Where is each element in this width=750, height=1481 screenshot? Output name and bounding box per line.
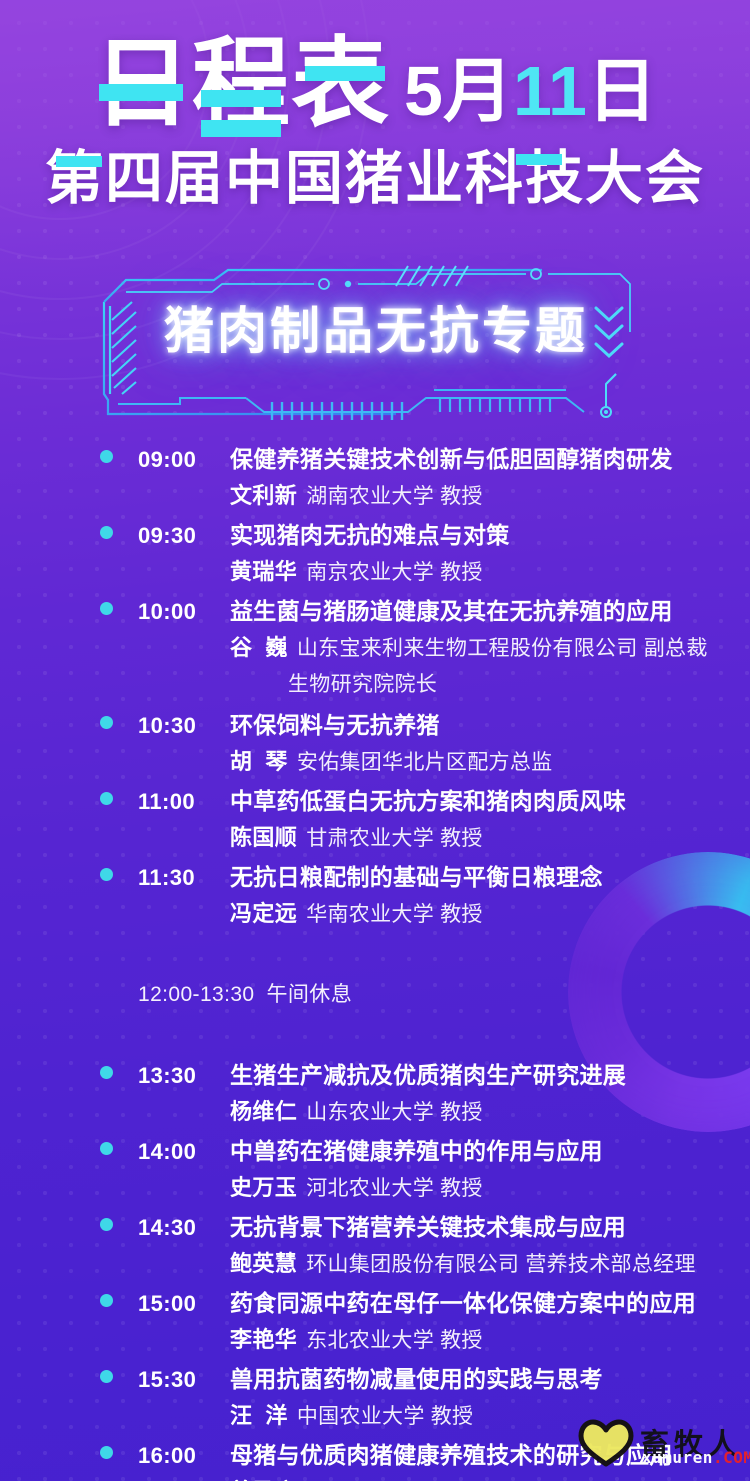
session-speaker: 鲍英慧	[230, 1246, 297, 1278]
poster-header: 日程表 5月11日 第四届中国猪业科技大会	[0, 0, 750, 208]
session-speaker: 冯定远	[230, 896, 297, 928]
session-topic: 实现猪肉无抗的难点与对策	[230, 516, 510, 550]
schedule-row[interactable]: 14:00 中兽药在猪健康养殖中的作用与应用 史万玉 河北农业大学 教授	[0, 1132, 750, 1208]
bullet-icon	[100, 602, 113, 615]
session-speaker-line: 谷 巍 山东宝来利来生物工程股份有限公司 副总裁	[100, 630, 750, 668]
bullet-icon	[100, 1370, 113, 1383]
session-speaker: 杨维仁	[230, 1094, 297, 1126]
session-speaker-line: 黄瑞华 南京农业大学 教授	[100, 554, 750, 592]
schedule-row[interactable]: 13:30 生猪生产减抗及优质猪肉生产研究进展 杨维仁 山东农业大学 教授	[0, 1056, 750, 1132]
session-time: 15:30	[138, 1367, 230, 1393]
session-main-line: 09:00 保健养猪关键技术创新与低胆固醇猪肉研发	[100, 440, 750, 478]
event-subtitle-text: 第四届中国猪业科技大会	[45, 146, 705, 211]
session-topic: 兽用抗菌药物减量使用的实践与思考	[230, 1360, 603, 1394]
session-time: 09:30	[138, 523, 230, 549]
session-affiliation: 山东农业大学 教授	[306, 1476, 483, 1481]
session-speaker: 曾勇庆	[230, 1474, 297, 1481]
session-speaker: 汪 洋	[230, 1398, 288, 1430]
session-main-line: 14:30 无抗背景下猪营养关键技术集成与应用	[100, 1208, 750, 1246]
session-speaker-line: 文利新 湖南农业大学 教授	[100, 478, 750, 516]
session-main-line: 11:30 无抗日粮配制的基础与平衡日粮理念	[100, 858, 750, 896]
session-affiliation: 山东农业大学 教授	[306, 1096, 483, 1126]
session-speaker-line: 杨维仁 山东农业大学 教授	[100, 1094, 750, 1132]
session-main-line: 10:00 益生菌与猪肠道健康及其在无抗养殖的应用	[100, 592, 750, 630]
session-affiliation: 中国农业大学 教授	[297, 1400, 474, 1430]
date-day: 11	[513, 52, 587, 130]
date-suffix: 日	[587, 52, 657, 130]
session-speaker-line: 冯定远 华南农业大学 教授	[100, 896, 750, 934]
watermark-en-domain: xumuren	[642, 1448, 713, 1467]
bullet-icon	[100, 1446, 113, 1459]
session-topic: 环保饲料与无抗养猪	[230, 706, 440, 740]
session-affiliation-line2: 生物研究院院长	[100, 668, 750, 706]
session-time: 11:00	[138, 789, 230, 815]
page-title: 日程表	[93, 34, 390, 132]
session-affiliation: 甘肃农业大学 教授	[306, 822, 483, 852]
bullet-icon	[100, 450, 113, 463]
session-affiliation: 东北农业大学 教授	[306, 1324, 483, 1354]
schedule-row[interactable]: 11:00 中草药低蛋白无抗方案和猪肉肉质风味 陈国顺 甘肃农业大学 教授	[0, 782, 750, 858]
event-subtitle: 第四届中国猪业科技大会	[0, 150, 750, 208]
page-title-text: 日程表	[93, 28, 390, 138]
bullet-icon	[100, 1066, 113, 1079]
poster-root: 日程表 5月11日 第四届中国猪业科技大会	[0, 0, 750, 1481]
session-topic: 无抗背景下猪营养关键技术集成与应用	[230, 1208, 626, 1242]
bullet-icon	[100, 792, 113, 805]
session-topic: 无抗日粮配制的基础与平衡日粮理念	[230, 858, 603, 892]
bullet-icon	[100, 526, 113, 539]
schedule-row[interactable]: 10:00 益生菌与猪肠道健康及其在无抗养殖的应用 谷 巍 山东宝来利来生物工程…	[0, 592, 750, 706]
session-affiliation-cont: 生物研究院院长	[288, 668, 437, 698]
session-time: 11:30	[138, 865, 230, 891]
watermark: 畜牧人 xumuren.COM	[578, 1412, 744, 1474]
banner-circuit-right	[606, 374, 616, 408]
session-affiliation: 河北农业大学 教授	[306, 1172, 483, 1202]
bullet-icon	[100, 1218, 113, 1231]
session-speaker: 李艳华	[230, 1322, 297, 1354]
lunch-break-label: 午间休息	[267, 978, 353, 1008]
session-time: 10:30	[138, 713, 230, 739]
session-speaker: 史万玉	[230, 1170, 297, 1202]
session-speaker-line: 鲍英慧 环山集团股份有限公司 营养技术部总经理	[100, 1246, 750, 1284]
session-main-line: 09:30 实现猪肉无抗的难点与对策	[100, 516, 750, 554]
session-speaker: 陈国顺	[230, 820, 297, 852]
session-speaker-line: 曾勇庆 山东农业大学 教授	[100, 1474, 750, 1481]
session-main-line: 14:00 中兽药在猪健康养殖中的作用与应用	[100, 1132, 750, 1170]
schedule-row[interactable]: 09:00 保健养猪关键技术创新与低胆固醇猪肉研发 文利新 湖南农业大学 教授	[0, 440, 750, 516]
session-affiliation: 安佑集团华北片区配方总监	[297, 746, 553, 776]
watermark-en: xumuren.COM	[642, 1450, 750, 1466]
schedule-row[interactable]: 09:30 实现猪肉无抗的难点与对策 黄瑞华 南京农业大学 教授	[0, 516, 750, 592]
session-time: 09:00	[138, 447, 230, 473]
session-main-line: 10:30 环保饲料与无抗养猪	[100, 706, 750, 744]
title-row: 日程表 5月11日	[0, 0, 750, 132]
session-speaker: 胡 琴	[230, 744, 288, 776]
session-speaker-line: 陈国顺 甘肃农业大学 教授	[100, 820, 750, 858]
session-affiliation: 山东宝来利来生物工程股份有限公司 副总裁	[297, 632, 708, 662]
bullet-icon	[100, 1294, 113, 1307]
session-speaker-line: 史万玉 河北农业大学 教授	[100, 1170, 750, 1208]
session-speaker: 文利新	[230, 478, 297, 510]
session-time: 14:30	[138, 1215, 230, 1241]
schedule-row[interactable]: 14:30 无抗背景下猪营养关键技术集成与应用 鲍英慧 环山集团股份有限公司 营…	[0, 1208, 750, 1284]
session-topic: 中兽药在猪健康养殖中的作用与应用	[230, 1132, 603, 1166]
session-time: 15:00	[138, 1291, 230, 1317]
banner-circuit-dot-core	[604, 410, 608, 414]
session-topic: 益生菌与猪肠道健康及其在无抗养殖的应用	[230, 592, 673, 626]
session-main-line: 15:00 药食同源中药在母仔一体化保健方案中的应用	[100, 1284, 750, 1322]
bullet-icon	[100, 1142, 113, 1155]
lunch-break-row: 12:00-13:30 午间休息	[0, 978, 750, 1016]
lunch-break-time: 12:00-13:30	[138, 983, 255, 1007]
schedule-row[interactable]: 15:00 药食同源中药在母仔一体化保健方案中的应用 李艳华 东北农业大学 教授	[0, 1284, 750, 1360]
session-affiliation: 环山集团股份有限公司 营养技术部总经理	[306, 1248, 696, 1278]
banner-comb-teeth-right	[440, 398, 550, 412]
session-speaker: 黄瑞华	[230, 554, 297, 586]
session-topic: 药食同源中药在母仔一体化保健方案中的应用	[230, 1284, 696, 1318]
session-speaker-line: 李艳华 东北农业大学 教授	[100, 1322, 750, 1360]
schedule-list: 09:00 保健养猪关键技术创新与低胆固醇猪肉研发 文利新 湖南农业大学 教授 …	[0, 440, 750, 1481]
session-time: 14:00	[138, 1139, 230, 1165]
session-topic: 中草药低蛋白无抗方案和猪肉肉质风味	[230, 782, 626, 816]
session-main-line: 11:00 中草药低蛋白无抗方案和猪肉肉质风味	[100, 782, 750, 820]
session-speaker: 谷 巍	[230, 630, 288, 662]
session-affiliation: 湖南农业大学 教授	[306, 480, 483, 510]
heart-icon	[578, 1419, 634, 1467]
session-affiliation: 南京农业大学 教授	[306, 556, 483, 586]
schedule-row[interactable]: 11:30 无抗日粮配制的基础与平衡日粮理念 冯定远 华南农业大学 教授	[0, 858, 750, 934]
date-month: 5月	[404, 52, 513, 130]
session-time: 16:00	[138, 1443, 230, 1469]
session-time: 13:30	[138, 1063, 230, 1089]
bullet-icon	[100, 868, 113, 881]
session-speaker-line: 胡 琴 安佑集团华北片区配方总监	[100, 744, 750, 782]
banner-node-left-dot	[345, 281, 351, 287]
banner-title: 猪肉制品无抗专题	[96, 306, 656, 356]
event-date: 5月11日	[404, 56, 657, 132]
topic-banner: 猪肉制品无抗专题	[96, 262, 656, 422]
session-topic: 生猪生产减抗及优质猪肉生产研究进展	[230, 1056, 626, 1090]
session-main-line: 15:30 兽用抗菌药物减量使用的实践与思考	[100, 1360, 750, 1398]
session-affiliation: 华南农业大学 教授	[306, 898, 483, 928]
session-topic: 保健养猪关键技术创新与低胆固醇猪肉研发	[230, 440, 673, 474]
banner-node-left	[319, 279, 329, 289]
session-main-line: 13:30 生猪生产减抗及优质猪肉生产研究进展	[100, 1056, 750, 1094]
watermark-en-tld: .COM	[713, 1448, 750, 1467]
session-time: 10:00	[138, 599, 230, 625]
watermark-text: 畜牧人 xumuren.COM	[640, 1428, 742, 1459]
schedule-row[interactable]: 10:30 环保饲料与无抗养猪 胡 琴 安佑集团华北片区配方总监	[0, 706, 750, 782]
bullet-icon	[100, 716, 113, 729]
